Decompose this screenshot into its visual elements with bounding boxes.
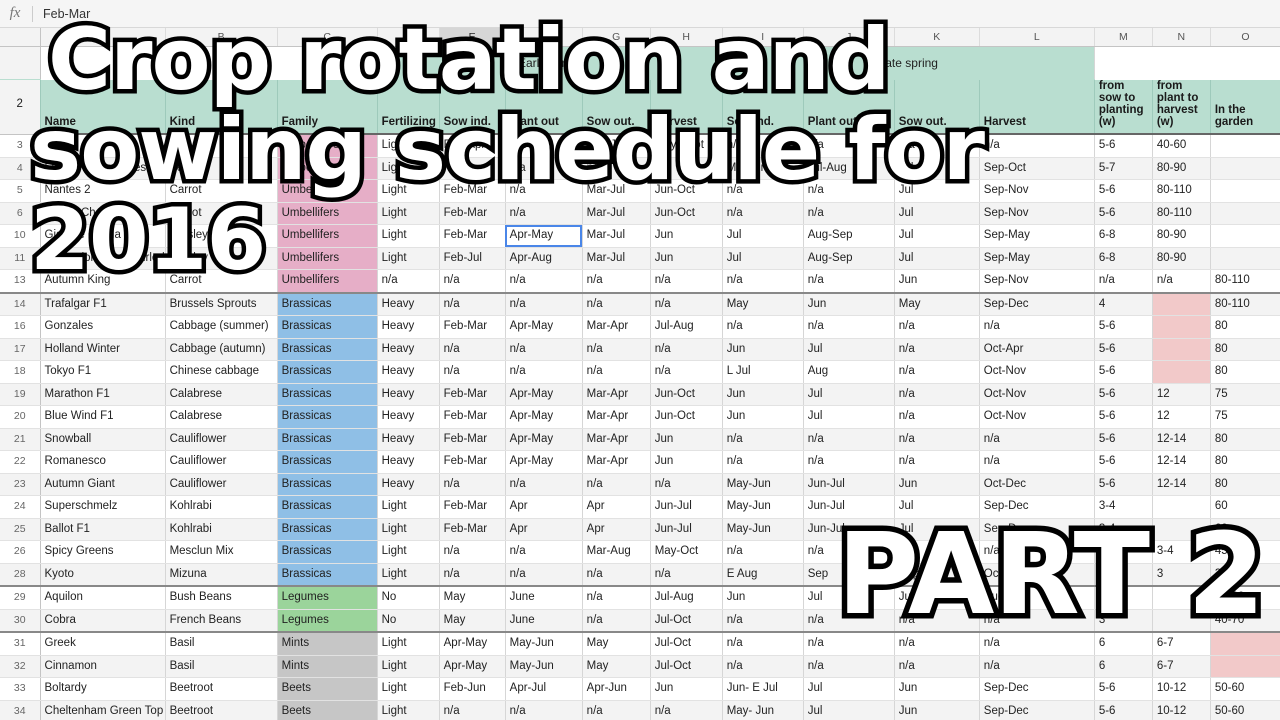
table-cell[interactable]: Heavy — [377, 383, 439, 406]
table-cell[interactable]: Feb-Mar — [439, 518, 505, 541]
table-cell[interactable]: Light — [377, 225, 439, 248]
table-cell[interactable]: 75 — [1210, 406, 1280, 429]
row-number[interactable]: 24 — [0, 496, 40, 519]
table-row[interactable]: 21SnowballCauliflowerBrassicasHeavyFeb-M… — [0, 428, 1280, 451]
table-cell[interactable]: Feb-Mar — [439, 451, 505, 474]
table-row[interactable]: 14Trafalgar F1Brussels SproutsBrassicasH… — [0, 293, 1280, 316]
table-cell[interactable]: n/a — [1094, 270, 1152, 293]
table-cell[interactable]: Jul — [803, 406, 894, 429]
table-cell[interactable]: 80 — [1210, 473, 1280, 496]
table-cell[interactable]: n/a — [722, 202, 803, 225]
table-cell[interactable]: Brassicas — [277, 383, 377, 406]
table-cell[interactable]: Light — [377, 541, 439, 564]
table-cell[interactable]: Brassicas — [277, 473, 377, 496]
table-cell[interactable]: 50-60 — [1210, 700, 1280, 720]
table-cell[interactable]: May-Oct — [650, 541, 722, 564]
table-cell[interactable]: 5-6 — [1094, 678, 1152, 701]
table-cell[interactable] — [1152, 361, 1210, 384]
table-cell[interactable]: 12-14 — [1152, 451, 1210, 474]
table-cell[interactable]: 5-6 — [1094, 563, 1152, 586]
table-cell[interactable]: Umbellifers — [277, 202, 377, 225]
table-cell[interactable]: Gigante d'Italia — [40, 225, 165, 248]
table-cell[interactable]: n/a — [803, 270, 894, 293]
table-cell[interactable]: n/a — [377, 270, 439, 293]
table-cell[interactable]: n/a — [650, 563, 722, 586]
table-cell[interactable]: Jun — [722, 406, 803, 429]
table-cell[interactable]: Apr-May — [505, 134, 582, 157]
row-number[interactable]: 23 — [0, 473, 40, 496]
table-cell[interactable]: Jun-Oct — [650, 202, 722, 225]
table-cell[interactable]: 80 — [1210, 361, 1280, 384]
table-cell[interactable] — [1152, 293, 1210, 316]
table-cell[interactable]: Cheltenham Green Top — [40, 700, 165, 720]
table-cell[interactable]: n/a — [803, 428, 894, 451]
table-cell[interactable]: 80 — [1210, 338, 1280, 361]
table-cell[interactable]: Carrot — [165, 202, 277, 225]
row-number[interactable]: 21 — [0, 428, 40, 451]
table-cell[interactable]: May — [439, 609, 505, 632]
table-row[interactable]: 11Champion Moss CurledParsleyUmbellifers… — [0, 247, 1280, 270]
table-cell[interactable]: n/a — [894, 361, 979, 384]
table-cell[interactable]: n/a — [439, 361, 505, 384]
table-cell[interactable]: Brassicas — [277, 496, 377, 519]
select-all-corner[interactable] — [0, 28, 40, 47]
column-header-i[interactable]: I — [722, 28, 803, 47]
row-number[interactable]: 4 — [0, 157, 40, 180]
table-cell[interactable]: Light — [377, 655, 439, 678]
table-cell[interactable]: Apr-May — [439, 655, 505, 678]
column-header-f[interactable]: F — [505, 28, 582, 47]
table-cell[interactable]: Umbellifers — [277, 180, 377, 203]
table-cell[interactable]: 80-110 — [1152, 180, 1210, 203]
table-cell[interactable]: Finocchio Romanesco — [40, 157, 165, 180]
table-cell[interactable]: Jul-Oct — [650, 632, 722, 655]
table-cell[interactable]: Calabrese — [165, 406, 277, 429]
table-cell[interactable]: 5-6 — [1094, 361, 1152, 384]
table-cell[interactable]: June — [505, 586, 582, 609]
table-cell[interactable]: 5-6 — [1094, 473, 1152, 496]
table-row[interactable]: 26Spicy GreensMesclun MixBrassicasLightn… — [0, 541, 1280, 564]
table-cell[interactable]: Light — [377, 518, 439, 541]
table-cell[interactable]: n/a — [722, 541, 803, 564]
table-cell[interactable]: May — [439, 586, 505, 609]
column-header-a[interactable]: A — [40, 28, 165, 47]
table-cell[interactable]: Sep-May — [979, 247, 1094, 270]
table-cell[interactable]: Mints — [277, 655, 377, 678]
table-cell[interactable]: n/a — [439, 157, 505, 180]
table-cell[interactable]: 80-110 — [1210, 293, 1280, 316]
row-number[interactable]: 5 — [0, 180, 40, 203]
table-row[interactable]: 19Marathon F1CalabreseBrassicasHeavyFeb-… — [0, 383, 1280, 406]
column-header-o[interactable]: O — [1210, 28, 1280, 47]
table-cell[interactable]: 5-6 — [1094, 134, 1152, 157]
table-row[interactable]: 32CinnamonBasilMintsLightApr-MayMay-JunM… — [0, 655, 1280, 678]
table-cell[interactable]: Light — [377, 134, 439, 157]
table-cell[interactable]: Feb-Mar — [439, 496, 505, 519]
table-cell[interactable]: May-Jun — [505, 655, 582, 678]
table-cell[interactable]: Apr — [505, 518, 582, 541]
table-cell[interactable]: Feb-Mar — [439, 202, 505, 225]
row-number[interactable]: 6 — [0, 202, 40, 225]
table-cell[interactable]: Oct-Nov — [979, 406, 1094, 429]
table-cell[interactable]: Mid Jun — [722, 157, 803, 180]
table-cell[interactable]: Aquilon — [40, 586, 165, 609]
table-cell[interactable]: Cauliflower — [165, 428, 277, 451]
table-cell[interactable]: Tokyo F1 — [40, 361, 165, 384]
table-cell[interactable]: n/a — [582, 270, 650, 293]
table-cell[interactable]: n/a — [582, 586, 650, 609]
table-cell[interactable]: Jul-Oct — [650, 609, 722, 632]
table-cell[interactable]: 12-14 — [1152, 473, 1210, 496]
table-cell[interactable]: n/a — [1152, 270, 1210, 293]
table-cell[interactable]: Gonzales — [40, 316, 165, 339]
table-cell[interactable]: 80 — [1210, 316, 1280, 339]
table-cell[interactable]: Mar-Apr — [582, 383, 650, 406]
table-cell[interactable]: Light — [377, 247, 439, 270]
table-cell[interactable]: Apr-Jun — [582, 678, 650, 701]
table-cell[interactable]: 80-90 — [1152, 247, 1210, 270]
table-cell[interactable]: Jun — [894, 270, 979, 293]
row-number[interactable]: 28 — [0, 563, 40, 586]
table-cell[interactable]: Purple Chantenay — [40, 202, 165, 225]
row-number[interactable]: 25 — [0, 518, 40, 541]
table-cell[interactable]: n/a — [894, 609, 979, 632]
table-cell[interactable]: Boltardy — [40, 678, 165, 701]
table-cell[interactable]: 80-90 — [1152, 225, 1210, 248]
table-cell[interactable]: n/a — [979, 655, 1094, 678]
table-cell[interactable]: n/a — [803, 180, 894, 203]
table-cell[interactable]: May- Jun — [722, 700, 803, 720]
column-header-m[interactable]: M — [1094, 28, 1152, 47]
table-cell[interactable]: Light — [377, 678, 439, 701]
table-cell[interactable]: n/a — [979, 609, 1094, 632]
table-cell[interactable]: Feb-Mar — [439, 406, 505, 429]
table-cell[interactable]: n/a — [1094, 541, 1152, 564]
table-cell[interactable]: Umbellifers — [277, 247, 377, 270]
table-cell[interactable]: Mar-Apr — [582, 428, 650, 451]
table-cell[interactable]: Jun-Jul — [803, 518, 894, 541]
table-cell[interactable]: n/a — [894, 406, 979, 429]
table-cell[interactable]: n/a — [505, 361, 582, 384]
table-cell[interactable]: n/a — [582, 473, 650, 496]
table-cell[interactable]: Brussels Sprouts — [165, 293, 277, 316]
row-number[interactable]: 31 — [0, 632, 40, 655]
table-cell[interactable]: Jul-Aug — [650, 586, 722, 609]
table-cell[interactable]: n/a — [803, 316, 894, 339]
row-number[interactable]: 14 — [0, 293, 40, 316]
table-cell[interactable]: May-Jun — [722, 496, 803, 519]
table-row[interactable]: 24SuperschmelzKohlrabiBrassicasLightFeb-… — [0, 496, 1280, 519]
table-cell[interactable]: Blue Wind F1 — [40, 406, 165, 429]
table-cell[interactable]: Kohlrabi — [165, 518, 277, 541]
table-cell[interactable]: Apr-May — [505, 428, 582, 451]
table-cell[interactable]: n/a — [803, 451, 894, 474]
table-cell[interactable]: Sep-Nov — [979, 270, 1094, 293]
table-cell[interactable]: Feb-Mar — [439, 225, 505, 248]
table-cell[interactable]: Jun-Jul — [650, 496, 722, 519]
table-cell[interactable]: 6-7 — [1152, 632, 1210, 655]
table-cell[interactable]: n/a — [439, 473, 505, 496]
table-cell[interactable]: Beetroot — [165, 700, 277, 720]
table-cell[interactable]: 40-60 — [1210, 586, 1280, 609]
table-cell[interactable]: n/a — [505, 338, 582, 361]
table-cell[interactable]: n/a — [439, 293, 505, 316]
table-cell[interactable]: Jun- E Jul — [722, 678, 803, 701]
table-cell[interactable]: French Beans — [165, 609, 277, 632]
table-cell[interactable]: Aug — [803, 361, 894, 384]
table-cell[interactable]: n/a — [505, 293, 582, 316]
table-cell[interactable]: Brassicas — [277, 428, 377, 451]
table-cell[interactable]: n/a — [722, 316, 803, 339]
table-row[interactable]: 30CobraFrench BeansLegumesNoMayJunen/aJu… — [0, 609, 1280, 632]
table-cell[interactable]: Jun-Jul — [650, 518, 722, 541]
table-cell[interactable]: Brassicas — [277, 361, 377, 384]
table-cell[interactable]: n/a — [505, 473, 582, 496]
table-cell[interactable]: Sep — [803, 563, 894, 586]
table-cell[interactable]: Ballot F1 — [40, 518, 165, 541]
table-cell[interactable] — [1210, 247, 1280, 270]
table-cell[interactable]: Heavy — [377, 473, 439, 496]
table-cell[interactable]: n/a — [505, 157, 582, 180]
table-cell[interactable]: Apr — [582, 496, 650, 519]
table-cell[interactable]: Calabrese — [165, 383, 277, 406]
table-cell[interactable]: n/a — [650, 338, 722, 361]
table-cell[interactable]: n/a — [582, 157, 650, 180]
column-header-e[interactable]: E — [439, 28, 505, 47]
table-cell[interactable]: Brassicas — [277, 541, 377, 564]
table-cell[interactable]: Brassicas — [277, 406, 377, 429]
table-cell[interactable]: Mar-Jul — [582, 225, 650, 248]
table-cell[interactable]: n/a — [650, 361, 722, 384]
table-cell[interactable]: n/a — [722, 428, 803, 451]
table-cell[interactable]: Jul — [803, 338, 894, 361]
table-cell[interactable] — [1210, 655, 1280, 678]
table-cell[interactable]: Jul — [722, 225, 803, 248]
row-number[interactable]: 34 — [0, 700, 40, 720]
table-cell[interactable]: Light — [377, 157, 439, 180]
table-cell[interactable]: Parsley — [165, 247, 277, 270]
table-cell[interactable]: Brassicas — [277, 518, 377, 541]
table-row[interactable]: 34Cheltenham Green TopBeetrootBeetsLight… — [0, 700, 1280, 720]
table-cell[interactable]: Jun-Jul — [803, 496, 894, 519]
row-number[interactable]: 13 — [0, 270, 40, 293]
table-cell[interactable]: n/a — [803, 632, 894, 655]
table-cell[interactable]: Jul — [894, 157, 979, 180]
table-cell[interactable]: Apr-Jul — [505, 678, 582, 701]
table-cell[interactable]: 3 — [1094, 586, 1152, 609]
table-cell[interactable]: Mesclun Mix — [165, 541, 277, 564]
table-cell[interactable]: 5-6 — [1094, 406, 1152, 429]
table-cell[interactable]: Feb-Jul — [439, 247, 505, 270]
table-cell[interactable]: Mar-Jul — [582, 134, 650, 157]
table-cell[interactable]: n/a — [650, 270, 722, 293]
table-cell[interactable]: n/a — [582, 563, 650, 586]
table-cell[interactable]: May — [722, 293, 803, 316]
table-cell[interactable]: Apr-Aug — [505, 247, 582, 270]
table-cell[interactable]: 5-6 — [1094, 700, 1152, 720]
table-cell[interactable]: Kyoto — [40, 563, 165, 586]
table-cell[interactable]: 5-6 — [1094, 202, 1152, 225]
table-cell[interactable]: 6-7 — [1152, 655, 1210, 678]
table-cell[interactable]: Cobra — [40, 609, 165, 632]
table-cell[interactable]: Jul — [803, 678, 894, 701]
table-cell[interactable]: Jul — [894, 518, 979, 541]
table-cell[interactable]: n/a — [803, 609, 894, 632]
table-cell[interactable]: Basil — [165, 632, 277, 655]
table-cell[interactable]: n/a — [894, 316, 979, 339]
table-cell[interactable]: Jun — [722, 383, 803, 406]
table-cell[interactable]: n/a — [439, 270, 505, 293]
table-cell[interactable]: Brassicas — [277, 338, 377, 361]
table-cell[interactable]: Mar-Jul — [582, 247, 650, 270]
table-cell[interactable]: n/a — [894, 632, 979, 655]
table-cell[interactable]: Feb-Mar — [439, 316, 505, 339]
table-cell[interactable]: 6-8 — [1094, 247, 1152, 270]
row-number[interactable]: 30 — [0, 609, 40, 632]
table-cell[interactable]: Feb-Mar — [439, 180, 505, 203]
table-cell[interactable] — [1210, 157, 1280, 180]
table-cell[interactable]: 5-6 — [1094, 316, 1152, 339]
table-cell[interactable]: n/a — [439, 563, 505, 586]
table-cell[interactable]: 3-4 — [1152, 541, 1210, 564]
table-cell[interactable]: 6 — [1094, 632, 1152, 655]
table-cell[interactable]: Jun — [894, 473, 979, 496]
table-cell[interactable]: May-Jun — [722, 518, 803, 541]
table-cell[interactable]: Jul-Aug — [803, 157, 894, 180]
table-cell[interactable] — [1210, 202, 1280, 225]
row-number[interactable]: 22 — [0, 451, 40, 474]
row-number[interactable]: 26 — [0, 541, 40, 564]
table-cell[interactable]: Aug — [979, 586, 1094, 609]
table-cell[interactable]: n/a — [722, 270, 803, 293]
table-cell[interactable]: Carrot — [165, 270, 277, 293]
row-number[interactable]: 33 — [0, 678, 40, 701]
table-cell[interactable]: Light — [377, 202, 439, 225]
table-row[interactable]: 31GreekBasilMintsLightApr-MayMay-JunMayJ… — [0, 632, 1280, 655]
table-cell[interactable]: Jul — [894, 202, 979, 225]
table-cell[interactable]: Light — [377, 180, 439, 203]
table-cell[interactable]: Romanesco — [40, 451, 165, 474]
table-cell[interactable]: Cinnamon — [40, 655, 165, 678]
table-cell[interactable]: Sep-Dec — [979, 293, 1094, 316]
table-cell[interactable]: 80 — [1210, 451, 1280, 474]
table-cell[interactable]: 6 — [1094, 655, 1152, 678]
column-header-j[interactable]: J — [803, 28, 894, 47]
table-cell[interactable]: 80-90 — [1152, 157, 1210, 180]
row-number[interactable]: 29 — [0, 586, 40, 609]
table-cell[interactable]: No — [377, 586, 439, 609]
table-cell[interactable]: Jul — [894, 225, 979, 248]
column-header-k[interactable]: K — [894, 28, 979, 47]
table-cell[interactable]: n/a — [582, 361, 650, 384]
table-cell[interactable]: Brassicas — [277, 563, 377, 586]
row-number[interactable]: 11 — [0, 247, 40, 270]
table-cell[interactable]: 12 — [1152, 406, 1210, 429]
table-cell[interactable]: Umbellifers — [277, 134, 377, 157]
table-cell[interactable]: Light — [377, 563, 439, 586]
table-cell[interactable]: May-Jun — [722, 473, 803, 496]
table-cell[interactable]: Apr — [582, 518, 650, 541]
table-cell[interactable]: Jul — [722, 247, 803, 270]
table-cell[interactable]: May-Sept — [650, 134, 722, 157]
table-cell[interactable] — [1152, 609, 1210, 632]
table-cell[interactable]: Spicy Greens — [40, 541, 165, 564]
table-row[interactable]: 10Gigante d'ItaliaParsleyUmbellifersLigh… — [0, 225, 1280, 248]
table-cell[interactable]: Umbellifers — [277, 157, 377, 180]
table-cell[interactable]: Mar-Apr — [582, 316, 650, 339]
table-cell[interactable]: Apr-May — [505, 225, 582, 248]
table-row[interactable]: 22RomanescoCauliflowerBrassicasHeavyFeb-… — [0, 451, 1280, 474]
table-cell[interactable]: Oct-Apr — [979, 338, 1094, 361]
column-header-l[interactable]: L — [979, 28, 1094, 47]
table-cell[interactable]: Jul — [803, 383, 894, 406]
table-cell[interactable]: Jun-Oct — [650, 383, 722, 406]
table-cell[interactable]: Carrot — [165, 180, 277, 203]
table-cell[interactable]: n/a — [894, 338, 979, 361]
table-cell[interactable]: Feb-Apr — [439, 134, 505, 157]
table-cell[interactable]: Jun — [803, 293, 894, 316]
table-cell[interactable]: Oct — [979, 563, 1094, 586]
table-cell[interactable]: Umbellifers — [277, 270, 377, 293]
table-cell[interactable] — [1210, 225, 1280, 248]
table-cell[interactable]: 75 — [1210, 383, 1280, 406]
table-cell[interactable]: Heavy — [377, 428, 439, 451]
table-cell[interactable]: Feb-Jun — [439, 678, 505, 701]
table-cell[interactable] — [1152, 496, 1210, 519]
column-header-n[interactable]: N — [1152, 28, 1210, 47]
formula-input[interactable]: Feb-Mar — [43, 7, 90, 21]
table-cell[interactable]: 5-6 — [1094, 383, 1152, 406]
table-cell[interactable]: n/a — [722, 632, 803, 655]
table-cell[interactable]: n/a — [650, 473, 722, 496]
table-cell[interactable]: n/a — [439, 338, 505, 361]
table-cell[interactable]: Jun — [650, 428, 722, 451]
table-cell[interactable]: Sep-Nov — [979, 202, 1094, 225]
table-cell[interactable]: n/a — [803, 541, 894, 564]
table-row[interactable]: 5Nantes 2CarrotUmbellifersLightFeb-Marn/… — [0, 180, 1280, 203]
column-header-c[interactable]: C — [277, 28, 377, 47]
table-cell[interactable]: Jun-Oct — [650, 180, 722, 203]
table-cell[interactable]: Apr — [505, 496, 582, 519]
table-row[interactable]: 17Holland WinterCabbage (autumn)Brassica… — [0, 338, 1280, 361]
table-cell[interactable]: Cabbage (summer) — [165, 316, 277, 339]
table-cell[interactable]: 4 — [1094, 293, 1152, 316]
table-cell[interactable]: n/a — [650, 700, 722, 720]
table-cell[interactable]: 5-6 — [1094, 338, 1152, 361]
table-cell[interactable]: 12-14 — [1152, 428, 1210, 451]
table-cell[interactable]: Beetroot — [165, 678, 277, 701]
table-cell[interactable]: Jun — [894, 678, 979, 701]
table-cell[interactable]: 80-110 — [1210, 270, 1280, 293]
table-cell[interactable]: 40-70 — [1210, 609, 1280, 632]
table-cell[interactable]: n/a — [894, 428, 979, 451]
table-row[interactable]: 4Finocchio RomanescoFennelUmbellifersLig… — [0, 157, 1280, 180]
table-cell[interactable]: Greek — [40, 632, 165, 655]
table-cell[interactable]: n/a — [722, 655, 803, 678]
table-cell[interactable]: Jul — [894, 586, 979, 609]
table-cell[interactable]: Sep-Dec — [979, 678, 1094, 701]
table-cell[interactable]: No — [377, 609, 439, 632]
table-cell[interactable]: Oct-Nov — [979, 361, 1094, 384]
table-cell[interactable]: n/a — [894, 134, 979, 157]
column-header-d[interactable]: D — [377, 28, 439, 47]
table-cell[interactable]: Sep-Dec — [979, 518, 1094, 541]
table-cell[interactable] — [1152, 586, 1210, 609]
table-cell[interactable]: Oct-Dec — [979, 473, 1094, 496]
table-cell[interactable]: Brassicas — [277, 316, 377, 339]
table-cell[interactable]: Mints — [277, 632, 377, 655]
table-cell[interactable]: May — [894, 293, 979, 316]
